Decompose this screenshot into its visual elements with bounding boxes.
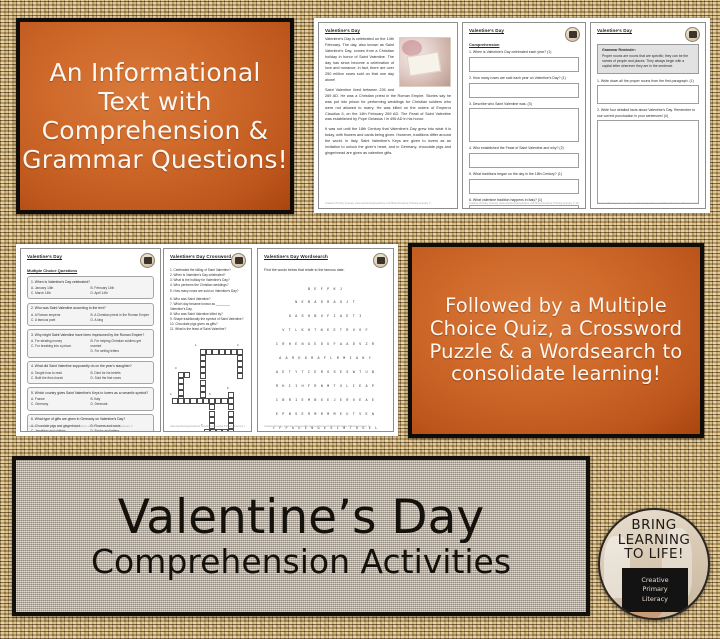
page-grammar-questions[interactable]: Valentine’s Day Grammar Reminder: Proper… — [590, 22, 706, 209]
mcq-option[interactable]: C. Jewellery and clothes — [31, 429, 91, 432]
question: 2. How many roses are sold each year on … — [469, 76, 579, 81]
logo-tagline: BRING LEARNING TO LIFE! — [600, 518, 708, 562]
grid-row: N E B A D R A G J T — [264, 301, 387, 306]
page-title: Valentine’s Day Wordsearch — [264, 254, 373, 259]
board-line-2: Primary — [641, 585, 668, 594]
question: 3. Describe who Saint Valentine was. (3) — [469, 102, 579, 107]
mcq-option[interactable]: B. A Christian priest in the Roman Empir… — [91, 313, 151, 318]
mcq-option[interactable]: D. For writing letters — [91, 349, 151, 354]
logo-seal-icon — [231, 253, 246, 268]
board-line-1: Creative — [641, 576, 668, 585]
mcq-item[interactable]: 5. Which country gives Saint Valentine’s… — [27, 387, 154, 410]
grid-row: V T L K H T N E E T R U O F — [264, 329, 387, 334]
logo-line-3: TO LIFE! — [600, 547, 708, 562]
chalkboard-text: Creative Primary Literacy — [641, 576, 668, 604]
answer-box[interactable] — [469, 57, 579, 72]
grid-row: I R H E N G E D U F A A D V Z R — [264, 343, 387, 348]
page-footer: Creative Primary Literacy www.teacherspa… — [27, 425, 154, 428]
mcq-item[interactable]: 1. When is Valentine’s Day celebrated? A… — [27, 276, 154, 299]
mcq-option[interactable]: C. March 14th — [31, 291, 91, 296]
wordsearch-instruction: Find the words below that relate to the … — [264, 268, 387, 273]
question: 2. Write four detailed facts about Valen… — [597, 108, 699, 119]
grid-row: R H I I H F R N M T O L I E A P — [264, 385, 387, 390]
question: 5. What traditions began on the day in t… — [469, 172, 579, 177]
subtitle: Comprehension Activities — [91, 545, 511, 578]
answer-box[interactable] — [597, 120, 699, 204]
grid-row: A A R D G R A F L R M I A N Y — [264, 357, 387, 362]
wordsearch-grid[interactable]: B E F P K J N E B A D R A G J T G A S H … — [264, 278, 387, 432]
answer-box[interactable] — [469, 179, 579, 194]
answer-box[interactable] — [469, 153, 579, 168]
title-bar: Valentine’s Day Comprehension Activities — [12, 456, 590, 616]
paragraph: Saint Valentine lived between 226 and 26… — [325, 88, 451, 123]
mcq-option[interactable]: C. For breaking into a prison — [31, 344, 91, 349]
mcq-option[interactable]: C. A famous poet — [31, 318, 91, 323]
page-footer: Creative Primary Literacy www.teacherspa… — [325, 202, 451, 205]
mcq-option[interactable]: B. For helping Christian soldiers get ma… — [91, 339, 151, 349]
answer-box[interactable] — [469, 205, 579, 210]
mcq-question: 2. Who was Saint Valentine according to … — [31, 306, 150, 310]
mcq-item[interactable]: 2. Who was Saint Valentine according to … — [27, 303, 154, 326]
question: 4. Who established the Feast of Saint Va… — [469, 146, 579, 151]
mcq-question: 4. What did Saint Valentine supposedly d… — [31, 364, 150, 368]
mcq-question: 1. When is Valentine’s Day celebrated? — [31, 280, 150, 284]
mcq-item[interactable]: 4. What did Saint Valentine supposedly d… — [27, 361, 154, 384]
answer-box[interactable] — [469, 83, 579, 98]
mcq-option[interactable]: D. A king — [91, 318, 151, 323]
grid-row: G A S H B U F I A E T I — [264, 315, 387, 320]
callout-text: An Informational Text with Comprehension… — [20, 58, 290, 174]
main-title: Valentine’s Day — [118, 494, 484, 541]
informational-text-callout[interactable]: An Informational Text with Comprehension… — [16, 18, 294, 214]
page-crossword[interactable]: Valentine’s Day Crossword 1. Celebrated … — [163, 248, 252, 432]
grid-row: A E T Y T I E R O S E S W T U B — [264, 371, 387, 376]
grid-row: I B R I E M B X E J E R O E A E — [264, 399, 387, 404]
page-footer: Creative Primary Literacy www.teacherspa… — [597, 202, 699, 205]
mcq-option[interactable]: D. Denmark — [91, 402, 151, 407]
grid-row: B E F P K J — [264, 288, 387, 293]
note-body: Proper nouns are nouns that are specific… — [602, 54, 688, 68]
grammar-reminder-note: Grammar Reminder: Proper nouns are nouns… — [597, 44, 699, 74]
section-subtitle: Comprehension — [469, 42, 579, 47]
page-footer: Creative Primary Literacy www.teacherspa… — [469, 202, 579, 205]
question: 1. When is Valentine’s Day celebrated ea… — [469, 50, 579, 55]
page-footer: www.teacherspayteachers.com/Store/Creati… — [170, 425, 245, 428]
page-title: Valentine’s Day — [27, 254, 140, 259]
logo-seal-icon — [685, 27, 700, 42]
page-comprehension-questions[interactable]: Valentine’s Day Comprehension 1. When is… — [462, 22, 586, 209]
mcq-item[interactable]: 6. What type of gifts are given in Germa… — [27, 414, 154, 432]
mcq-item[interactable]: 3. Why might Saint Valentine have been i… — [27, 329, 154, 357]
valentine-photo — [399, 37, 451, 87]
page-title: Valentine’s Day — [325, 28, 451, 33]
chalkboard-icon: Creative Primary Literacy — [622, 568, 688, 612]
mcq-option[interactable]: C. Germany — [31, 402, 91, 407]
crossword-grid[interactable]: 1. 2. 3. — [170, 339, 245, 433]
page-title: Valentine’s Day Crossword — [170, 254, 233, 259]
logo-seal-icon — [140, 253, 155, 268]
logo-line-2: LEARNING — [600, 533, 708, 548]
page-footer: Creative Primary Literacy www.teacherspa… — [264, 425, 387, 428]
crossword-clue: 5. How many roses are sold on Valentine’… — [170, 289, 245, 294]
crossword-clue: 7. Which day became known as ________ Va… — [170, 302, 245, 312]
mcq-question: 6. What type of gifts are given in Germa… — [31, 417, 150, 421]
mcq-option[interactable]: C. Built the first church — [31, 376, 91, 381]
logo-seal-icon — [373, 253, 388, 268]
mcq-option[interactable]: D. Books and letters — [91, 429, 151, 432]
crossword-clue: 11. What is the feast of Saint Valentine… — [170, 327, 245, 332]
logo-line-1: BRING — [600, 518, 708, 533]
answer-box[interactable] — [469, 108, 579, 142]
grid-row: E P B S E R M R M M E U T V E N — [264, 413, 387, 418]
logo-seal-icon — [565, 27, 580, 42]
page-reading-text[interactable]: Valentine’s Day Valentine’s Day is celeb… — [318, 22, 458, 209]
mcq-option[interactable]: D. April 14th — [91, 291, 151, 296]
board-line-3: Literacy — [641, 595, 668, 604]
mcq-question: 5. Which country gives Saint Valentine’s… — [31, 391, 150, 395]
note-heading: Grammar Reminder: — [602, 48, 694, 53]
question: 1. Write down all the proper nouns from … — [597, 79, 699, 84]
page-title: Valentine’s Day — [469, 28, 565, 33]
page-title: Valentine’s Day — [597, 28, 685, 33]
brand-logo-badge[interactable]: BRING LEARNING TO LIFE! Creative Primary… — [598, 508, 710, 620]
activities-callout[interactable]: Followed by a Multiple Choice Quiz, a Cr… — [408, 243, 704, 438]
page-multiple-choice-quiz[interactable]: Valentine’s Day Multiple Choice Question… — [20, 248, 161, 432]
paragraph: It was not until the 18th Century that V… — [325, 127, 451, 156]
callout-text: Followed by a Multiple Choice Quiz, a Cr… — [412, 295, 700, 385]
mcq-question: 3. Why might Saint Valentine have been i… — [31, 333, 150, 337]
answer-box[interactable] — [597, 85, 699, 104]
page-wordsearch[interactable]: Valentine’s Day Wordsearch Find the word… — [257, 248, 394, 432]
mcq-option[interactable]: D. Sold the first roses — [91, 376, 151, 381]
section-subtitle: Multiple Choice Questions — [27, 268, 154, 273]
